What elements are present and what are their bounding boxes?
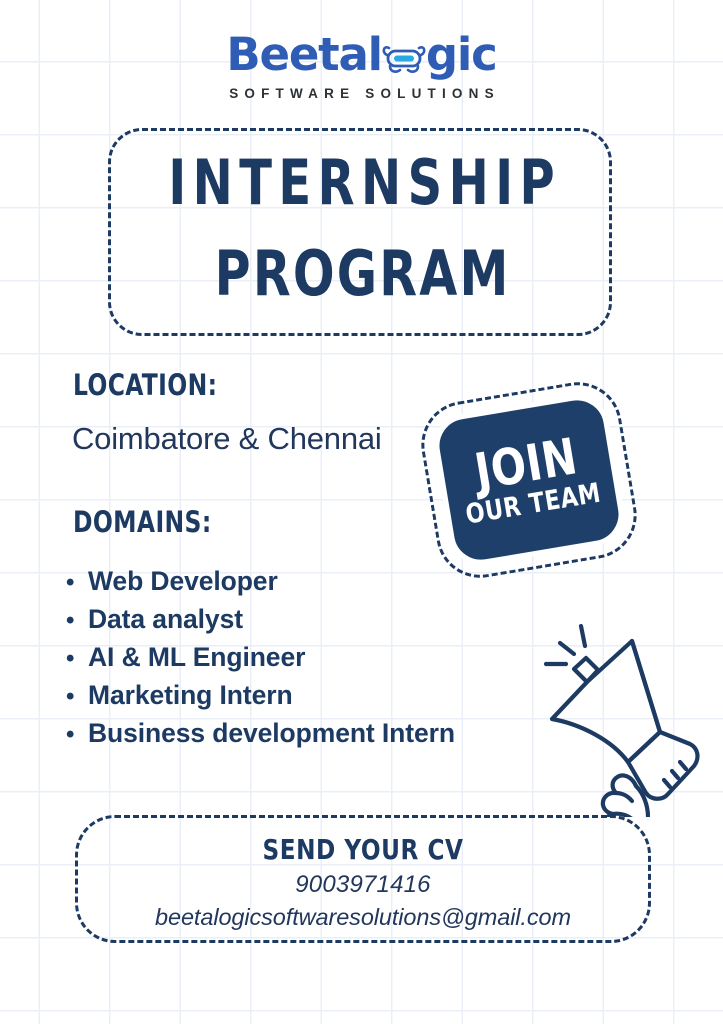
brand-name-part2: gic — [426, 32, 497, 77]
megaphone-with-hand-icon — [540, 612, 722, 817]
brand-wordmark: Beetal gic — [226, 32, 496, 77]
location-value: Coimbatore & Chennai — [72, 421, 392, 456]
contact-title: SEND YOUR CV — [98, 836, 628, 864]
list-item: • AI & ML Engineer — [66, 639, 455, 677]
list-item: • Web Developer — [66, 563, 455, 601]
location-label: LOCATION: — [73, 371, 217, 400]
beetle-logo-icon — [381, 39, 427, 73]
contact-email[interactable]: beetalogicsoftwaresolutions@gmail.com — [75, 906, 651, 930]
list-item-label: AI & ML Engineer — [88, 639, 305, 677]
contact-phone[interactable]: 9003971416 — [75, 873, 651, 897]
list-item: • Business development Intern — [66, 715, 455, 753]
page-title: INTERNSHIP — [51, 152, 673, 214]
list-item: • Data analyst — [66, 601, 455, 639]
bullet-icon: • — [66, 571, 88, 595]
list-item-label: Data analyst — [88, 601, 243, 639]
domains-label: DOMAINS: — [73, 508, 212, 537]
join-our-team-badge: JOIN OUR TEAM — [430, 391, 629, 570]
poster-canvas: Beetal gic SOFTWARE SOLUTIONS INTERNSHIP… — [0, 0, 723, 1024]
list-item: • Marketing Intern — [66, 677, 455, 715]
badge-body: JOIN OUR TEAM — [430, 391, 629, 570]
brand-tagline: SOFTWARE SOLUTIONS — [0, 86, 723, 101]
list-item-label: Marketing Intern — [88, 677, 293, 715]
list-item-label: Web Developer — [88, 563, 278, 601]
domains-list: • Web Developer • Data analyst • AI & ML… — [66, 563, 455, 752]
brand-logo: Beetal gic SOFTWARE SOLUTIONS — [0, 32, 723, 101]
page-subtitle: PROGRAM — [43, 243, 679, 305]
bullet-icon: • — [66, 685, 88, 709]
list-item-label: Business development Intern — [88, 715, 455, 753]
bullet-icon: • — [66, 723, 88, 747]
bullet-icon: • — [66, 609, 88, 633]
bullet-icon: • — [66, 647, 88, 671]
brand-name-part1: Beetal — [226, 32, 381, 77]
